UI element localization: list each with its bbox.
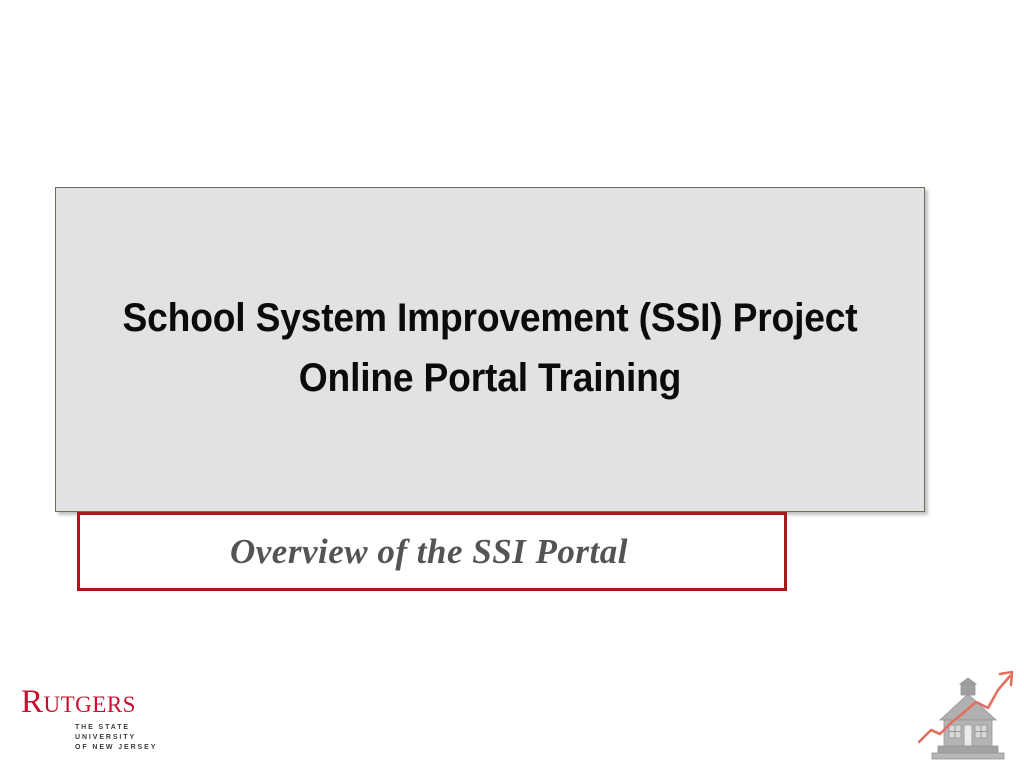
schoolhouse-growth-icon bbox=[918, 668, 1018, 764]
rutgers-logo: Rutgers THE STATE UNIVERSITY OF NEW JERS… bbox=[21, 686, 191, 748]
subtitle-box: Overview of the SSI Portal bbox=[77, 512, 787, 591]
slide-title: School System Improvement (SSI) Project … bbox=[86, 288, 893, 412]
presentation-slide: School System Improvement (SSI) Project … bbox=[0, 0, 1024, 768]
rutgers-wordmark: Rutgers bbox=[21, 686, 191, 719]
rutgers-tagline: THE STATE UNIVERSITY OF NEW JERSEY bbox=[75, 723, 191, 753]
title-box: School System Improvement (SSI) Project … bbox=[55, 187, 925, 512]
slide-subtitle: Overview of the SSI Portal bbox=[230, 532, 628, 572]
